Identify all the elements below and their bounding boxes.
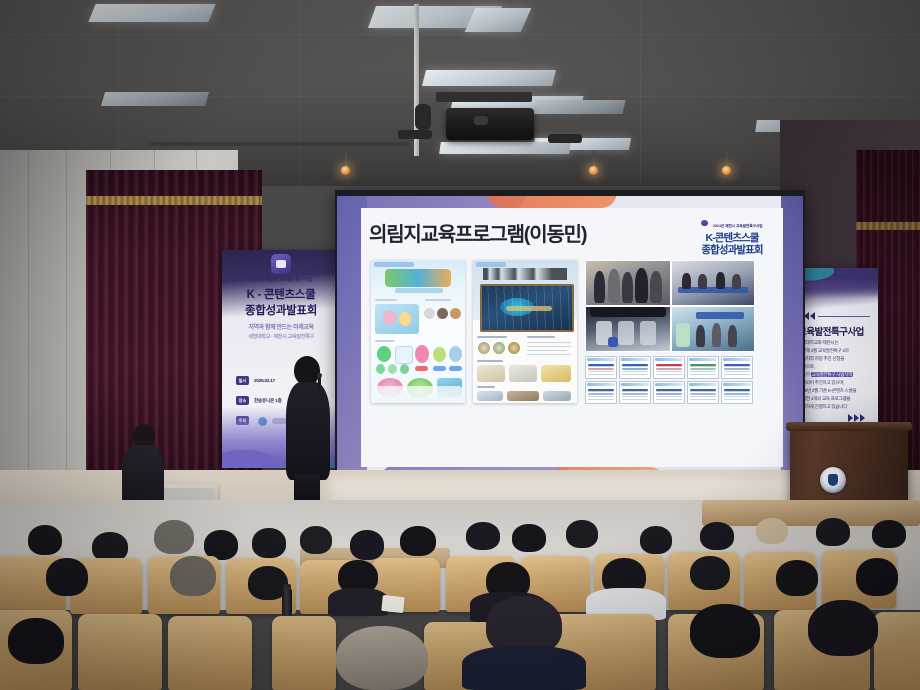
- auditorium-seat: [168, 616, 252, 690]
- poster-image: [399, 312, 411, 326]
- audience-head: [170, 556, 216, 596]
- banner-right-body-line: 지난해 4월 교육발전특구 2차: [798, 348, 849, 354]
- worksheet-card: [653, 356, 685, 379]
- worksheet-card: [721, 381, 753, 404]
- slide-logo-kicker: 2024년 제천시 교육발전특구사업: [685, 214, 779, 232]
- audience-head: [300, 526, 332, 554]
- poster-text-block: [395, 346, 413, 364]
- divider: [818, 316, 870, 317]
- worksheet-card: [585, 356, 617, 379]
- poster-character-icon: [433, 347, 446, 362]
- poster-seal-icon: [478, 342, 490, 354]
- audience-shoulders: [462, 646, 586, 690]
- curtain-valance: [86, 196, 262, 205]
- audience-head: [336, 626, 428, 690]
- audience-head: [856, 558, 898, 596]
- audience-head: [566, 520, 598, 548]
- audience-head: [400, 526, 436, 556]
- slide-top-decoration: [487, 196, 617, 208]
- poster-character-icon: [400, 364, 409, 374]
- presenter-head: [294, 356, 320, 385]
- water-bottle: [282, 588, 292, 616]
- ceiling-light-panel: [533, 100, 626, 114]
- poster-footer: [374, 386, 462, 402]
- auditorium-seat: [78, 614, 162, 690]
- poster-subtitle-bar: [395, 288, 443, 293]
- event-logo-icon: [271, 254, 291, 274]
- worksheet-card: [687, 356, 719, 379]
- poster-calligraphy-title: [483, 268, 567, 280]
- audience-head: [872, 520, 906, 548]
- audience-head: [640, 526, 672, 554]
- slide-poster-left: [371, 260, 465, 403]
- banner-right-highlight: 교육발전특구 시범지역: [811, 372, 853, 377]
- poster-image: [477, 391, 503, 401]
- presenter: [284, 356, 332, 508]
- audience-head: [808, 600, 878, 656]
- poster-tag: [433, 366, 446, 371]
- university-emblem-icon: [820, 467, 846, 493]
- handheld-microphone: [318, 376, 321, 388]
- poster-tag: [415, 366, 428, 371]
- slide-event-photo: [585, 260, 671, 306]
- poster-image: [424, 308, 435, 319]
- ceiling-light-panel: [88, 4, 215, 22]
- banner-meta-label: 일시: [236, 376, 249, 385]
- ceiling-light-panel: [439, 142, 571, 154]
- worksheet-card: [619, 356, 651, 379]
- banner-kicker: 2024년 제천시 교육발전특구사업: [222, 277, 340, 283]
- banner-title-line1: K - 콘텐츠스쿨: [222, 286, 340, 302]
- banner-meta-row: 장소 한송유니온 1층: [236, 396, 282, 405]
- auditorium-seat: [272, 616, 336, 690]
- worksheet-card: [721, 356, 753, 379]
- audience-head: [690, 556, 730, 590]
- poster-character-icon: [415, 345, 429, 363]
- banner-meta-label: 장소: [236, 396, 249, 405]
- worksheet-card: [619, 381, 651, 404]
- audience-shoulders: [328, 588, 388, 616]
- podium-top: [786, 422, 912, 431]
- poster-signboard-photo: [480, 284, 574, 332]
- worksheet-card: [687, 381, 719, 404]
- projector-lens: [474, 116, 488, 125]
- stage-spotlight: [341, 166, 350, 175]
- slide-event-photo: [585, 306, 671, 352]
- ceiling-speaker: [415, 104, 431, 130]
- banner-right-body-line: 포함한 4개의 교육 프로그램을: [798, 396, 850, 402]
- poster-image: [383, 310, 396, 325]
- poster-seal-icon: [508, 342, 520, 354]
- slide-worksheet-grid: [585, 356, 753, 404]
- banner-right-body-line: 교육부 교육발전특구 시범지역: [798, 372, 853, 378]
- banner-right-title: 교육발전특구사업: [798, 324, 864, 338]
- slide-logo-line2: 종합성과발표회: [685, 244, 779, 256]
- slide-event-photo: [671, 260, 755, 306]
- slide-poster-right: [473, 260, 577, 403]
- poster-image: [437, 308, 448, 319]
- poster-character-icon: [377, 346, 391, 362]
- curtain-valance: [856, 222, 920, 230]
- poster-character-icon: [376, 364, 385, 374]
- auditorium-seat: [874, 612, 920, 690]
- auditorium-presentation-photo: 2024년 제천시 교육발전특구사업 K - 콘텐츠스쿨 종합성과발표회 지역과…: [0, 0, 920, 690]
- banner-title-line2: 종합성과발표회: [222, 302, 340, 318]
- audience-head: [756, 518, 788, 544]
- slide-event-photo: [671, 306, 755, 352]
- ceiling-speaker: [548, 134, 582, 143]
- audience-head: [776, 560, 818, 596]
- slide-logo: 2024년 제천시 교육발전특구사업 K-콘텐츠스쿨 종합성과발표회: [685, 213, 779, 249]
- ceiling-light-panel: [101, 92, 209, 106]
- signboard-label: [506, 306, 552, 311]
- audience-head: [8, 618, 64, 664]
- poster-image: [541, 365, 571, 382]
- banner-right-body-line: 활발하게 진행하고 있습니다: [798, 404, 847, 410]
- banner-right-body-line: 2025년 2월 기준 K-콘텐츠 스쿨을: [798, 388, 856, 394]
- poster-image: [450, 308, 461, 319]
- projection-screen: 의림지교육프로그램(이동민) 2024년 제천시 교육발전특구사업 K-콘텐츠스…: [337, 196, 803, 479]
- poster-header-bar: [476, 262, 506, 267]
- ceiling-light-panel: [465, 8, 532, 32]
- audience-head: [690, 604, 760, 658]
- audience-head: [350, 530, 384, 560]
- ceiling-speaker: [398, 130, 432, 139]
- logo-mark-icon: [701, 220, 708, 226]
- banner-meta-row: 일시 2025.02.17: [236, 376, 275, 385]
- stage-spotlight: [722, 166, 731, 175]
- poster-image: [477, 365, 505, 382]
- audience-head: [154, 520, 194, 554]
- worksheet-card: [653, 381, 685, 404]
- poster-tag: [449, 366, 462, 371]
- poster-logo: [385, 269, 451, 287]
- poster-image: [375, 304, 419, 334]
- lighting-track: [150, 142, 410, 146]
- handout-paper: [381, 595, 405, 613]
- projector-mount: [436, 92, 532, 102]
- spot-rod: [345, 148, 347, 168]
- poster-seal-icon: [493, 342, 505, 354]
- ceiling-projector: [446, 108, 534, 140]
- slide-content: 의림지교육프로그램(이동민) 2024년 제천시 교육발전특구사업 K-콘텐츠스…: [361, 208, 783, 467]
- presenter-body: [286, 382, 330, 480]
- banner-subtitle: 지역과 함께 만드는 미래교육: [222, 322, 340, 331]
- slide-logo-line1: K-콘텐츠스쿨: [685, 232, 779, 244]
- worksheet-card: [585, 381, 617, 404]
- slide-logo-kicker-text: 2024년 제천시 교육발전특구사업: [713, 224, 763, 228]
- slide-title: 의림지교육프로그램(이동민): [369, 218, 586, 247]
- poster-image: [509, 365, 537, 382]
- audience-head: [816, 518, 850, 546]
- audience-head: [46, 558, 88, 596]
- audience-head: [700, 522, 734, 550]
- stage-spotlight: [589, 166, 598, 175]
- banner-subtitle-secondary: 세명대학교 · 제천시 교육발전특구: [222, 333, 340, 340]
- ceiling-light-panel: [422, 70, 556, 86]
- poster-image: [543, 391, 571, 401]
- banner-meta-value: 2025.02.17: [254, 378, 275, 383]
- audience-head: [28, 525, 62, 555]
- banner-meta-value: 한송유니온 1층: [254, 398, 282, 404]
- poster-image: [507, 391, 539, 401]
- poster-character-icon: [388, 364, 397, 374]
- poster-header-bar: [374, 262, 414, 267]
- poster-character-icon: [449, 346, 462, 362]
- audience-head: [252, 528, 286, 558]
- audience-head: [466, 522, 500, 550]
- chevron-right-icon: [848, 414, 865, 422]
- audience-head: [512, 524, 546, 552]
